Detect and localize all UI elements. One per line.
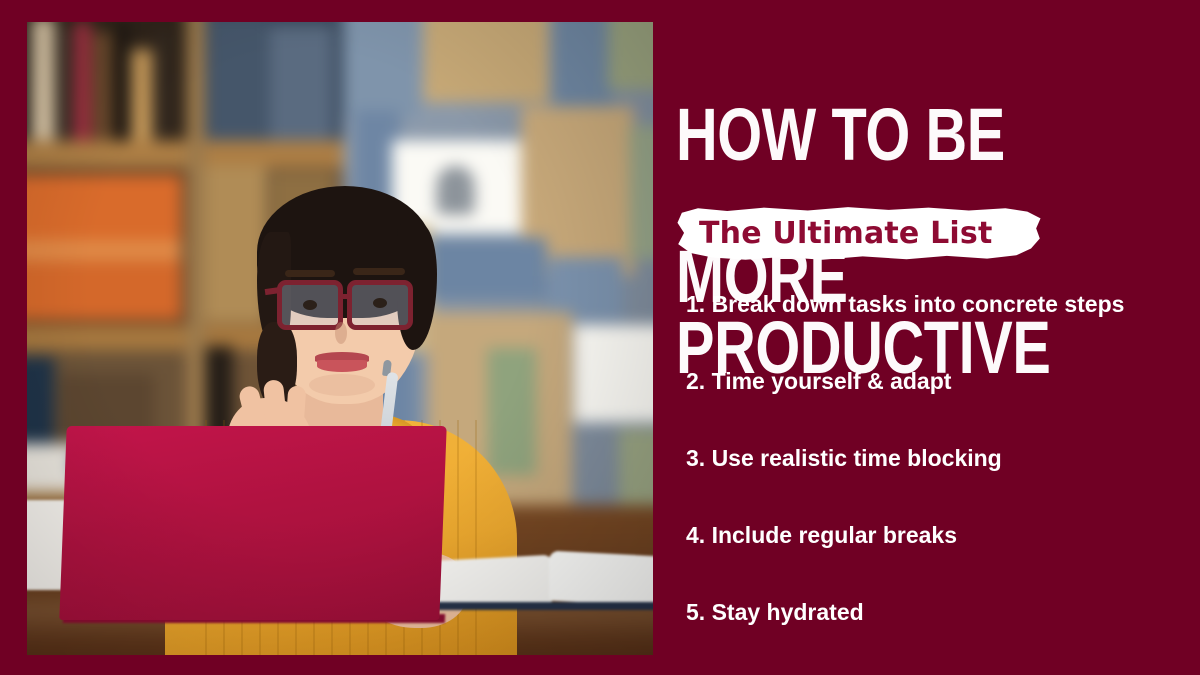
chin-shadow <box>309 374 375 396</box>
title-line-1: HOW TO BE <box>676 99 1175 170</box>
list-item: 1. Break down tasks into concrete steps <box>686 290 1186 367</box>
list-item: 2. Time yourself & adapt <box>686 367 1186 444</box>
eyeglasses-bridge <box>341 294 351 299</box>
eyebrow-right <box>353 268 405 275</box>
lower-lip <box>317 360 367 372</box>
laptop-lid <box>59 426 446 620</box>
list-item: 5. Stay hydrated <box>686 598 1186 675</box>
content-panel: HOW TO BE MORE PRODUCTIVE The Ultimate L… <box>676 0 1200 675</box>
eye-left <box>303 300 317 310</box>
open-notebook <box>425 550 653 612</box>
subtitle-label: The Ultimate List <box>699 214 993 254</box>
list-item: 4. Include regular breaks <box>686 521 1186 598</box>
hero-photo <box>27 22 653 655</box>
subtitle-banner: The Ultimate List <box>676 206 1042 262</box>
tips-list: 1. Break down tasks into concrete steps … <box>686 290 1186 675</box>
finger <box>286 385 307 426</box>
list-item: 3. Use realistic time blocking <box>686 444 1186 521</box>
eyebrow-left <box>285 270 335 277</box>
eye-right <box>373 298 387 308</box>
slide-canvas: HOW TO BE MORE PRODUCTIVE The Ultimate L… <box>0 0 1200 675</box>
nose <box>335 322 347 344</box>
